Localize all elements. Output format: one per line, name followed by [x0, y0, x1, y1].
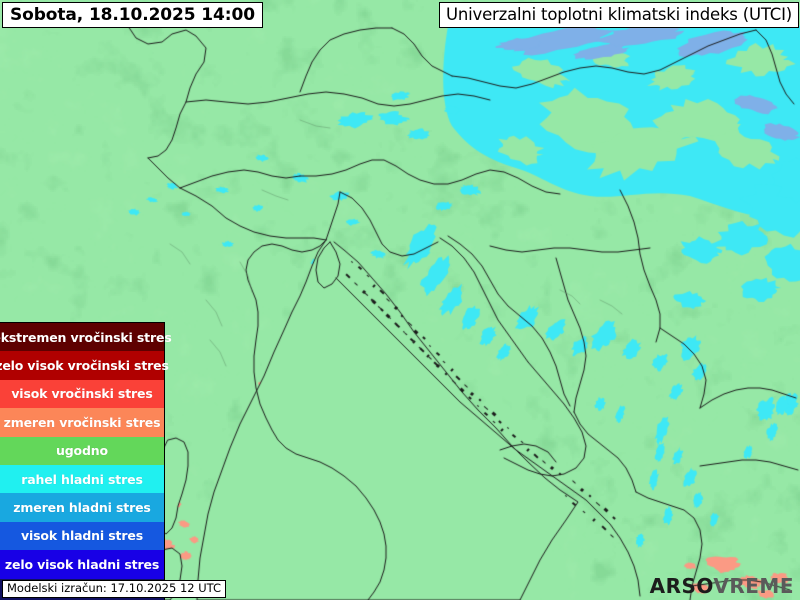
- legend-band-0: ekstremen vročinski stres: [0, 323, 164, 351]
- legend-band-label: rahel hladni stres: [21, 472, 143, 487]
- legend-band-label: zmeren vročinski stres: [4, 415, 161, 430]
- watermark-arso-text: ARSO: [650, 574, 714, 598]
- arso-vreme-watermark: ARSOVREME: [650, 576, 794, 596]
- legend-band-2: visok vročinski stres: [0, 380, 164, 408]
- legend-band-label: zelo visok vročinski stres: [0, 358, 169, 373]
- legend-band-label: ugodno: [56, 443, 108, 458]
- legend-band-label: visok vročinski stres: [11, 386, 152, 401]
- legend-band-label: zelo visok hladni stres: [5, 557, 159, 572]
- legend-band-1: zelo visok vročinski stres: [0, 351, 164, 379]
- legend-band-8: zelo visok hladni stres: [0, 550, 164, 578]
- legend-band-label: zmeren hladni stres: [13, 500, 150, 515]
- watermark-vreme-text: VREME: [713, 574, 794, 598]
- map-datetime-label: Sobota, 18.10.2025 14:00: [2, 2, 263, 28]
- legend-band-6: zmeren hladni stres: [0, 493, 164, 521]
- legend-band-label: ekstremen vročinski stres: [0, 330, 172, 345]
- utci-weather-map-screen: Sobota, 18.10.2025 14:00 Univerzalni top…: [0, 0, 800, 600]
- legend-band-5: rahel hladni stres: [0, 465, 164, 493]
- legend-band-7: visok hladni stres: [0, 522, 164, 550]
- utci-legend: ekstremen vročinski streszelo visok vroč…: [0, 322, 165, 600]
- page-title: Univerzalni toplotni klimatski indeks (U…: [439, 2, 799, 28]
- model-run-label: Modelski izračun: 17.10.2025 12 UTC: [2, 580, 226, 598]
- legend-band-3: zmeren vročinski stres: [0, 408, 164, 436]
- legend-band-4: ugodno: [0, 437, 164, 465]
- legend-band-label: visok hladni stres: [21, 528, 143, 543]
